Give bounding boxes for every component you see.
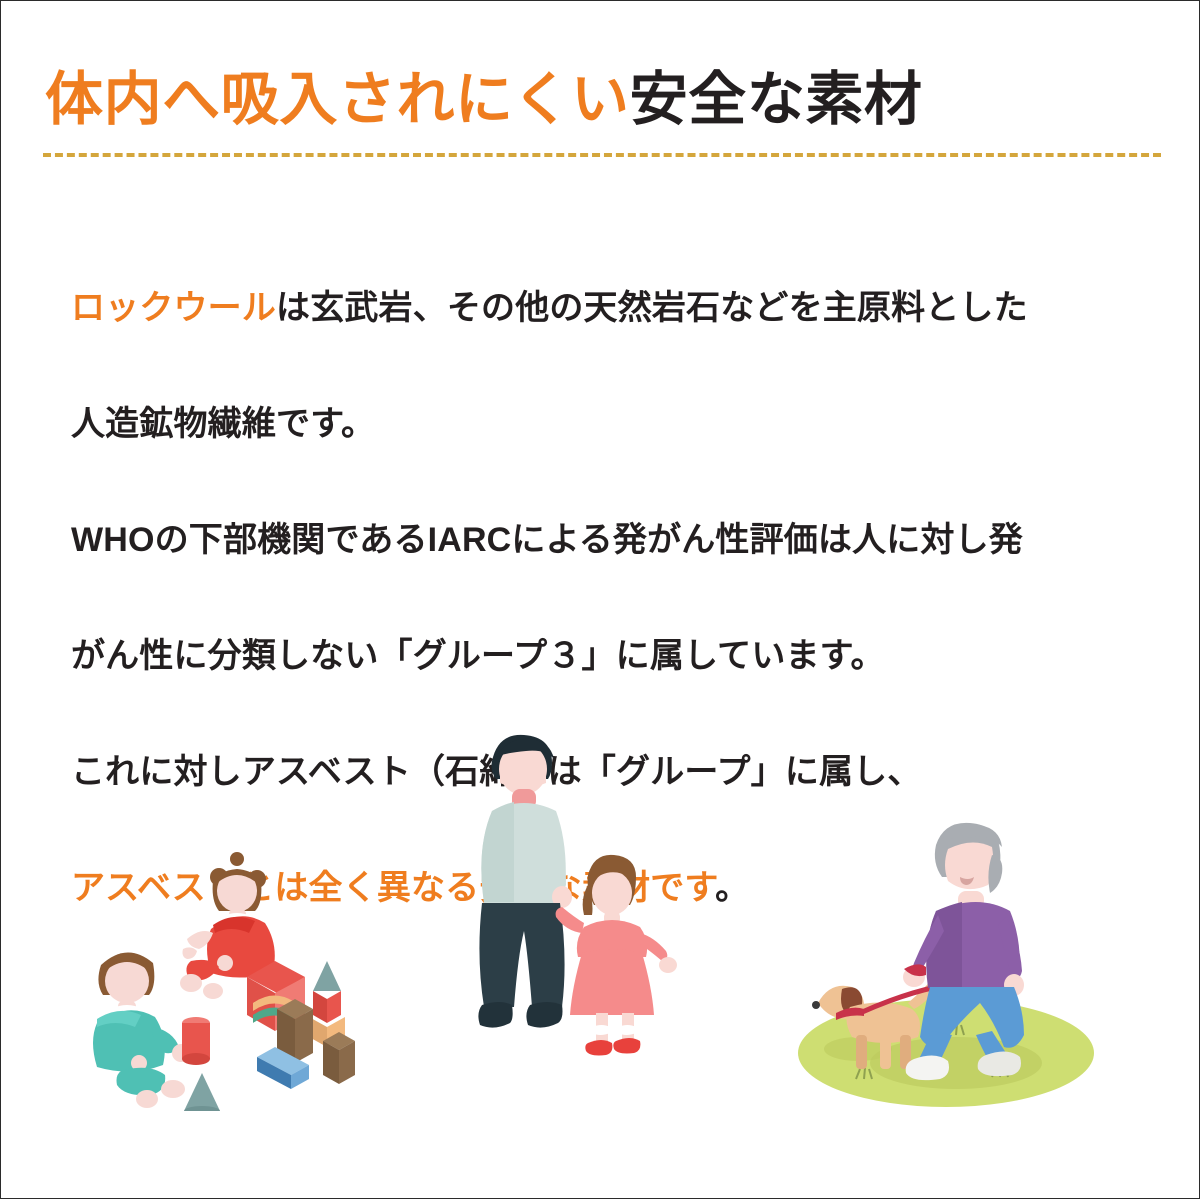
copy-line-1: ロックウールは玄武岩、その他の天然岩石などを主原料とした: [71, 267, 1151, 349]
copy-line-1-highlight: ロックウール: [71, 289, 276, 327]
title-divider: [43, 153, 1161, 157]
infographic-page: 体内へ吸入されにくい安全な素材 ロックウールは玄武岩、その他の天然岩石などを主原…: [0, 0, 1200, 1199]
block-cone-slate: [184, 1073, 220, 1111]
copy-line-2-rest: 人造鉱物繊維です。: [71, 405, 375, 443]
copy-line-1-rest: は玄武岩、その他の天然岩石などを主原料とした: [276, 289, 1028, 327]
children-blocks-illustration: [61, 821, 361, 1116]
senior-dog-walk-illustration: [796, 791, 1106, 1116]
page-title-highlight: 体内へ吸入されにくい: [45, 67, 630, 132]
parent-child-illustration: [456, 721, 686, 1066]
illustration-strip: [1, 721, 1200, 1121]
copy-line-4-rest: がん性に分類しない「グループ３」に属しています。: [71, 637, 885, 675]
adult-figure: [478, 735, 572, 1028]
copy-line-3-rest: WHOの下部機関であるIARCによる発がん性評価は人に対し発: [71, 521, 1023, 559]
child-figure: [556, 855, 677, 1056]
copy-line-3: WHOの下部機関であるIARCによる発がん性評価は人に対し発: [71, 499, 1151, 581]
copy-line-2: 人造鉱物繊維です。: [71, 383, 1151, 465]
baby-teal-figure: [93, 952, 190, 1108]
copy-line-4: がん性に分類しない「グループ３」に属しています。: [71, 615, 1151, 697]
block-brown-small: [323, 1032, 355, 1084]
block-cylinder-red: [182, 1017, 210, 1065]
page-title: 体内へ吸入されにくい安全な素材: [45, 53, 1157, 131]
page-title-rest: 安全な素材: [630, 67, 923, 132]
